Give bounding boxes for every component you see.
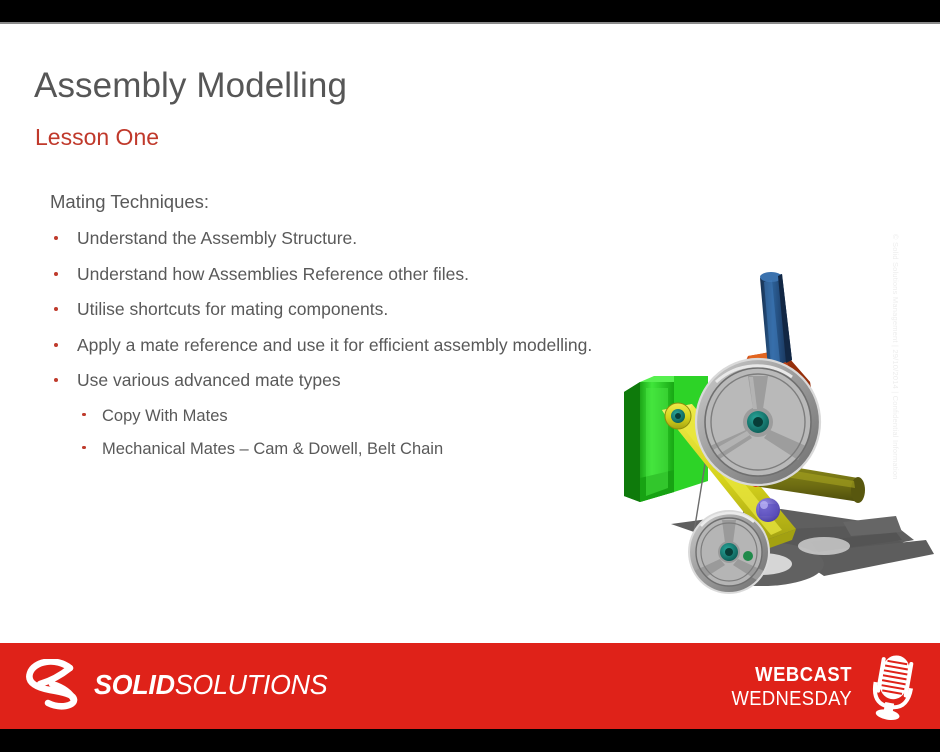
list-item: Understand the Assembly Structure. — [50, 227, 650, 249]
footer-banner: SOLIDSOLUTIONS WEBCAST WEDNESDAY — [0, 643, 940, 729]
logo-swoosh-icon — [26, 659, 88, 711]
webcast-label: WEBCAST — [731, 665, 852, 685]
cad-assembly-illustration — [596, 264, 940, 624]
slide-canvas: Assembly Modelling Lesson One Mating Tec… — [0, 24, 940, 729]
list-item: Utilise shortcuts for mating components. — [50, 298, 650, 320]
slide-viewer: Assembly Modelling Lesson One Mating Tec… — [0, 0, 940, 752]
logo-wordmark: SOLIDSOLUTIONS — [94, 669, 327, 701]
list-item: Apply a mate reference and use it for ef… — [50, 334, 650, 356]
list-item-sub: Mechanical Mates – Cam & Dowell, Belt Ch… — [50, 438, 650, 460]
letterbox-bar-top — [0, 0, 940, 22]
list-item: Understand how Assemblies Reference othe… — [50, 263, 650, 285]
list-item-sub: Copy With Mates — [50, 405, 650, 427]
webcast-wednesday-lockup: WEBCAST WEDNESDAY — [721, 657, 928, 717]
page-title: Assembly Modelling — [34, 66, 347, 106]
letterbox-bar-bottom — [0, 729, 940, 752]
solid-solutions-logo[interactable]: SOLIDSOLUTIONS — [26, 659, 337, 711]
section-lead-text: Mating Techniques: — [50, 191, 209, 213]
wednesday-label: WEDNESDAY — [731, 689, 852, 709]
bullet-list: Understand the Assembly Structure. Under… — [50, 227, 650, 471]
logo-wordmark-bold: SOLID — [94, 669, 175, 700]
large-pulley — [696, 359, 820, 485]
purple-knob — [756, 498, 780, 522]
logo-wordmark-light: SOLUTIONS — [175, 669, 328, 700]
list-item: Use various advanced mate types — [50, 369, 650, 391]
page-subtitle: Lesson One — [35, 124, 159, 151]
small-pulley — [689, 511, 769, 593]
webcast-wednesday-text: WEBCAST WEDNESDAY — [721, 665, 852, 709]
microphone-icon — [856, 651, 928, 723]
